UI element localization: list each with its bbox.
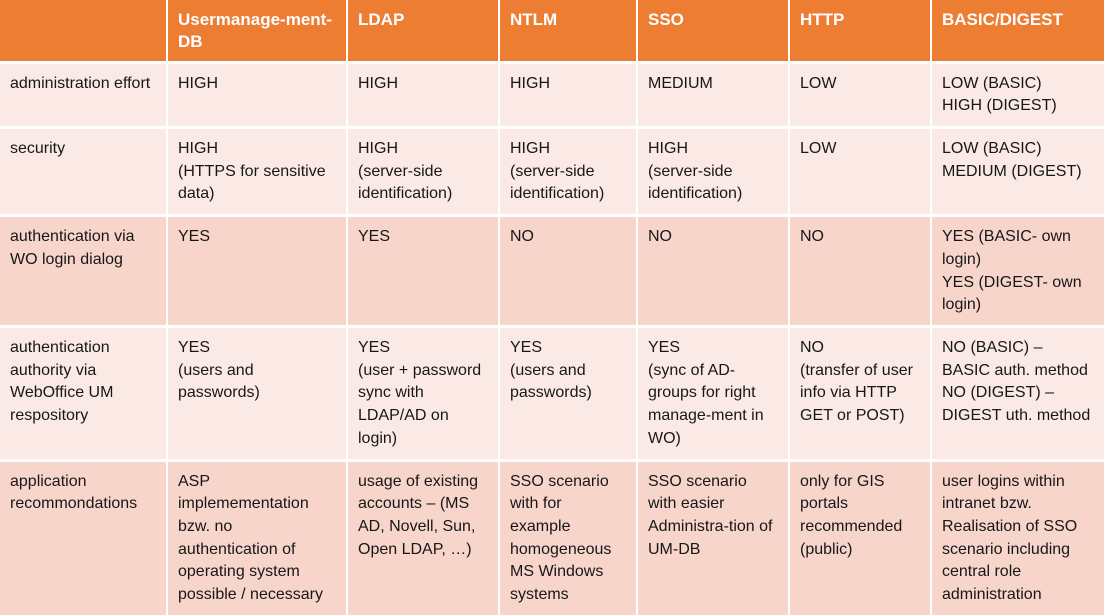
cell-text: HIGH (server-side identification) [648,138,778,206]
cell-text: YES (users and passwords) [178,337,336,405]
row-header-label: authentication authority via WebOffice U… [0,325,168,459]
cell-text: NO (BASIC) – BASIC auth. method NO (DIGE… [942,337,1094,428]
row-header-label: administration effort [0,61,168,126]
column-header-basic: BASIC/DIGEST [932,0,1104,61]
cell-text: YES (user + password sync with LDAP/AD o… [358,337,488,451]
table-cell-umdb: YES [168,214,348,325]
cell-text: LOW [800,73,920,96]
table-row: authentication via WO login dialogYESYES… [0,214,1104,325]
cell-text: YES [358,226,488,249]
table-cell-http: LOW [790,61,932,126]
cell-text: NO [800,226,920,249]
table-cell-ldap: usage of existing accounts – (MS AD, Nov… [348,459,500,615]
column-header-corner [0,0,168,61]
cell-text: HIGH [178,73,336,96]
cell-text: LOW (BASIC) HIGH (DIGEST) [942,73,1094,118]
table-cell-ldap: HIGH (server-side identification) [348,126,500,214]
cell-text: NO [648,226,778,249]
cell-text: ASP implemementation bzw. no authenticat… [178,471,336,607]
cell-text: NO [510,226,626,249]
cell-text: HIGH (server-side identification) [358,138,488,206]
cell-text: only for GIS portals recommended (public… [800,471,920,562]
table-cell-basic: LOW (BASIC) HIGH (DIGEST) [932,61,1104,126]
table-cell-http: NO (transfer of user info via HTTP GET o… [790,325,932,459]
row-header-label: security [0,126,168,214]
cell-text: SSO scenario with for example homogeneou… [510,471,626,607]
table-cell-http: NO [790,214,932,325]
cell-text: YES (BASIC- own login) YES (DIGEST- own … [942,226,1094,317]
table-row: authentication authority via WebOffice U… [0,325,1104,459]
cell-text: MEDIUM [648,73,778,96]
cell-text: HIGH [358,73,488,96]
table-row: securityHIGH (HTTPS for sensitive data)H… [0,126,1104,214]
table-header: Usermanage-ment-DBLDAPNTLMSSOHTTPBASIC/D… [0,0,1104,61]
table-cell-basic: NO (BASIC) – BASIC auth. method NO (DIGE… [932,325,1104,459]
table-body: administration effortHIGHHIGHHIGHMEDIUML… [0,61,1104,615]
column-header-sso: SSO [638,0,790,61]
table-cell-basic: user logins within intranet bzw. Realisa… [932,459,1104,615]
cell-text: YES [178,226,336,249]
column-header-http: HTTP [790,0,932,61]
table-cell-ldap: HIGH [348,61,500,126]
table-cell-http: only for GIS portals recommended (public… [790,459,932,615]
column-header-ldap: LDAP [348,0,500,61]
column-header-ntlm: NTLM [500,0,638,61]
cell-text: usage of existing accounts – (MS AD, Nov… [358,471,488,562]
table-cell-sso: HIGH (server-side identification) [638,126,790,214]
table-cell-sso: SSO scenario with easier Administra-tion… [638,459,790,615]
table-cell-umdb: YES (users and passwords) [168,325,348,459]
table-cell-ntlm: HIGH (server-side identification) [500,126,638,214]
row-header-label: application recommondations [0,459,168,615]
cell-text: YES (sync of AD-groups for right manage-… [648,337,778,451]
table-cell-basic: LOW (BASIC) MEDIUM (DIGEST) [932,126,1104,214]
table-cell-http: LOW [790,126,932,214]
cell-text: user logins within intranet bzw. Realisa… [942,471,1094,607]
cell-text: HIGH [510,73,626,96]
table-cell-umdb: HIGH (HTTPS for sensitive data) [168,126,348,214]
table-cell-sso: NO [638,214,790,325]
table-row: application recommondationsASP implememe… [0,459,1104,615]
cell-text: NO (transfer of user info via HTTP GET o… [800,337,920,428]
table-row: administration effortHIGHHIGHHIGHMEDIUML… [0,61,1104,126]
table-cell-ntlm: SSO scenario with for example homogeneou… [500,459,638,615]
table-cell-ldap: YES (user + password sync with LDAP/AD o… [348,325,500,459]
table-cell-sso: YES (sync of AD-groups for right manage-… [638,325,790,459]
cell-text: LOW [800,138,920,161]
table-header-row: Usermanage-ment-DBLDAPNTLMSSOHTTPBASIC/D… [0,0,1104,61]
table-cell-basic: YES (BASIC- own login) YES (DIGEST- own … [932,214,1104,325]
cell-text: YES (users and passwords) [510,337,626,405]
cell-text: SSO scenario with easier Administra-tion… [648,471,778,562]
authentication-comparison-table: Usermanage-ment-DBLDAPNTLMSSOHTTPBASIC/D… [0,0,1104,615]
column-header-umdb: Usermanage-ment-DB [168,0,348,61]
row-header-label: authentication via WO login dialog [0,214,168,325]
table-cell-sso: MEDIUM [638,61,790,126]
table-cell-ntlm: YES (users and passwords) [500,325,638,459]
cell-text: HIGH (server-side identification) [510,138,626,206]
table-cell-umdb: HIGH [168,61,348,126]
table-cell-ntlm: HIGH [500,61,638,126]
table-cell-ntlm: NO [500,214,638,325]
cell-text: LOW (BASIC) MEDIUM (DIGEST) [942,138,1094,183]
table-cell-umdb: ASP implemementation bzw. no authenticat… [168,459,348,615]
table-cell-ldap: YES [348,214,500,325]
cell-text: HIGH (HTTPS for sensitive data) [178,138,336,206]
